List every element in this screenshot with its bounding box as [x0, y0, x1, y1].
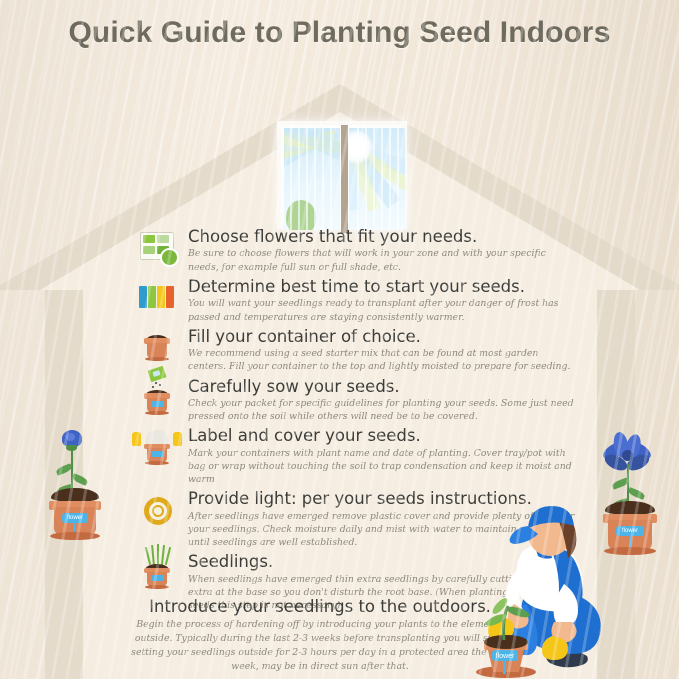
sun-light-ring-icon [138, 492, 180, 534]
blind-slat [306, 128, 308, 230]
blind-slat [373, 128, 375, 230]
blind-slat [357, 128, 359, 230]
blind-slat [314, 128, 316, 230]
blind-slat [322, 128, 324, 230]
empty-pot-icon [138, 330, 180, 372]
page-title: Quick Guide to Planting Seed Indoors [0, 16, 679, 50]
step-item: Fill your container of choice. We recomm… [138, 328, 578, 374]
soil [51, 488, 99, 502]
step-body: Check your packet for specific guideline… [188, 397, 578, 423]
seed-packet-sowing-icon [138, 380, 180, 422]
infographic-poster: Quick Guide to Planting Seed Indoors [0, 0, 679, 679]
window-pane-left [284, 128, 340, 230]
step-heading: Determine best time to start your seeds. [188, 278, 578, 296]
sunny-window-illustration [277, 121, 407, 229]
blind-slat [381, 128, 383, 230]
leaf [627, 487, 645, 500]
soil [484, 635, 528, 649]
step-item: Determine best time to start your seeds.… [138, 278, 578, 324]
blind-slat [298, 128, 300, 230]
step-body: You will want your seedlings ready to tr… [188, 297, 578, 323]
blind-slat [365, 128, 367, 230]
covered-pot-gloves-icon [138, 429, 180, 471]
window-mullion [341, 125, 348, 233]
calendar-icon [138, 280, 180, 322]
potted-blue-bud-flower: flower [40, 420, 110, 540]
step-item: Choose flowers that fit your needs. Be s… [138, 228, 578, 274]
step-body: We recommend using a seed starter mix th… [188, 347, 578, 373]
flower-bud-highlight [66, 433, 75, 441]
blind-slat [397, 128, 399, 230]
window-pane-right [349, 128, 405, 230]
step-heading: Carefully sow your seeds. [188, 378, 578, 396]
step-heading: Choose flowers that fit your needs. [188, 228, 578, 246]
pot-label-stem [503, 660, 506, 674]
step-heading: Fill your container of choice. [188, 328, 578, 346]
gardener-svg: flower [444, 500, 644, 679]
step-heading: Label and cover your seeds. [188, 427, 578, 445]
blind-slat [330, 128, 332, 230]
step-item: Label and cover your seeds. Mark your co… [138, 427, 578, 486]
flower-center [622, 450, 633, 461]
seedlings-pot-icon [138, 555, 180, 597]
step-item: Carefully sow your seeds. Check your pac… [138, 378, 578, 424]
seed-catalog-icon [138, 230, 180, 272]
leaf [71, 473, 88, 486]
step-body: Mark your containers with plant name and… [188, 447, 578, 487]
pot-saucer [50, 532, 100, 540]
blind-slat [389, 128, 391, 230]
kneeling-gardener-illustration: flower [444, 500, 644, 679]
step-body: Be sure to choose flowers that will work… [188, 247, 578, 273]
pot-label: flower [496, 653, 515, 660]
blind-slat [290, 128, 292, 230]
